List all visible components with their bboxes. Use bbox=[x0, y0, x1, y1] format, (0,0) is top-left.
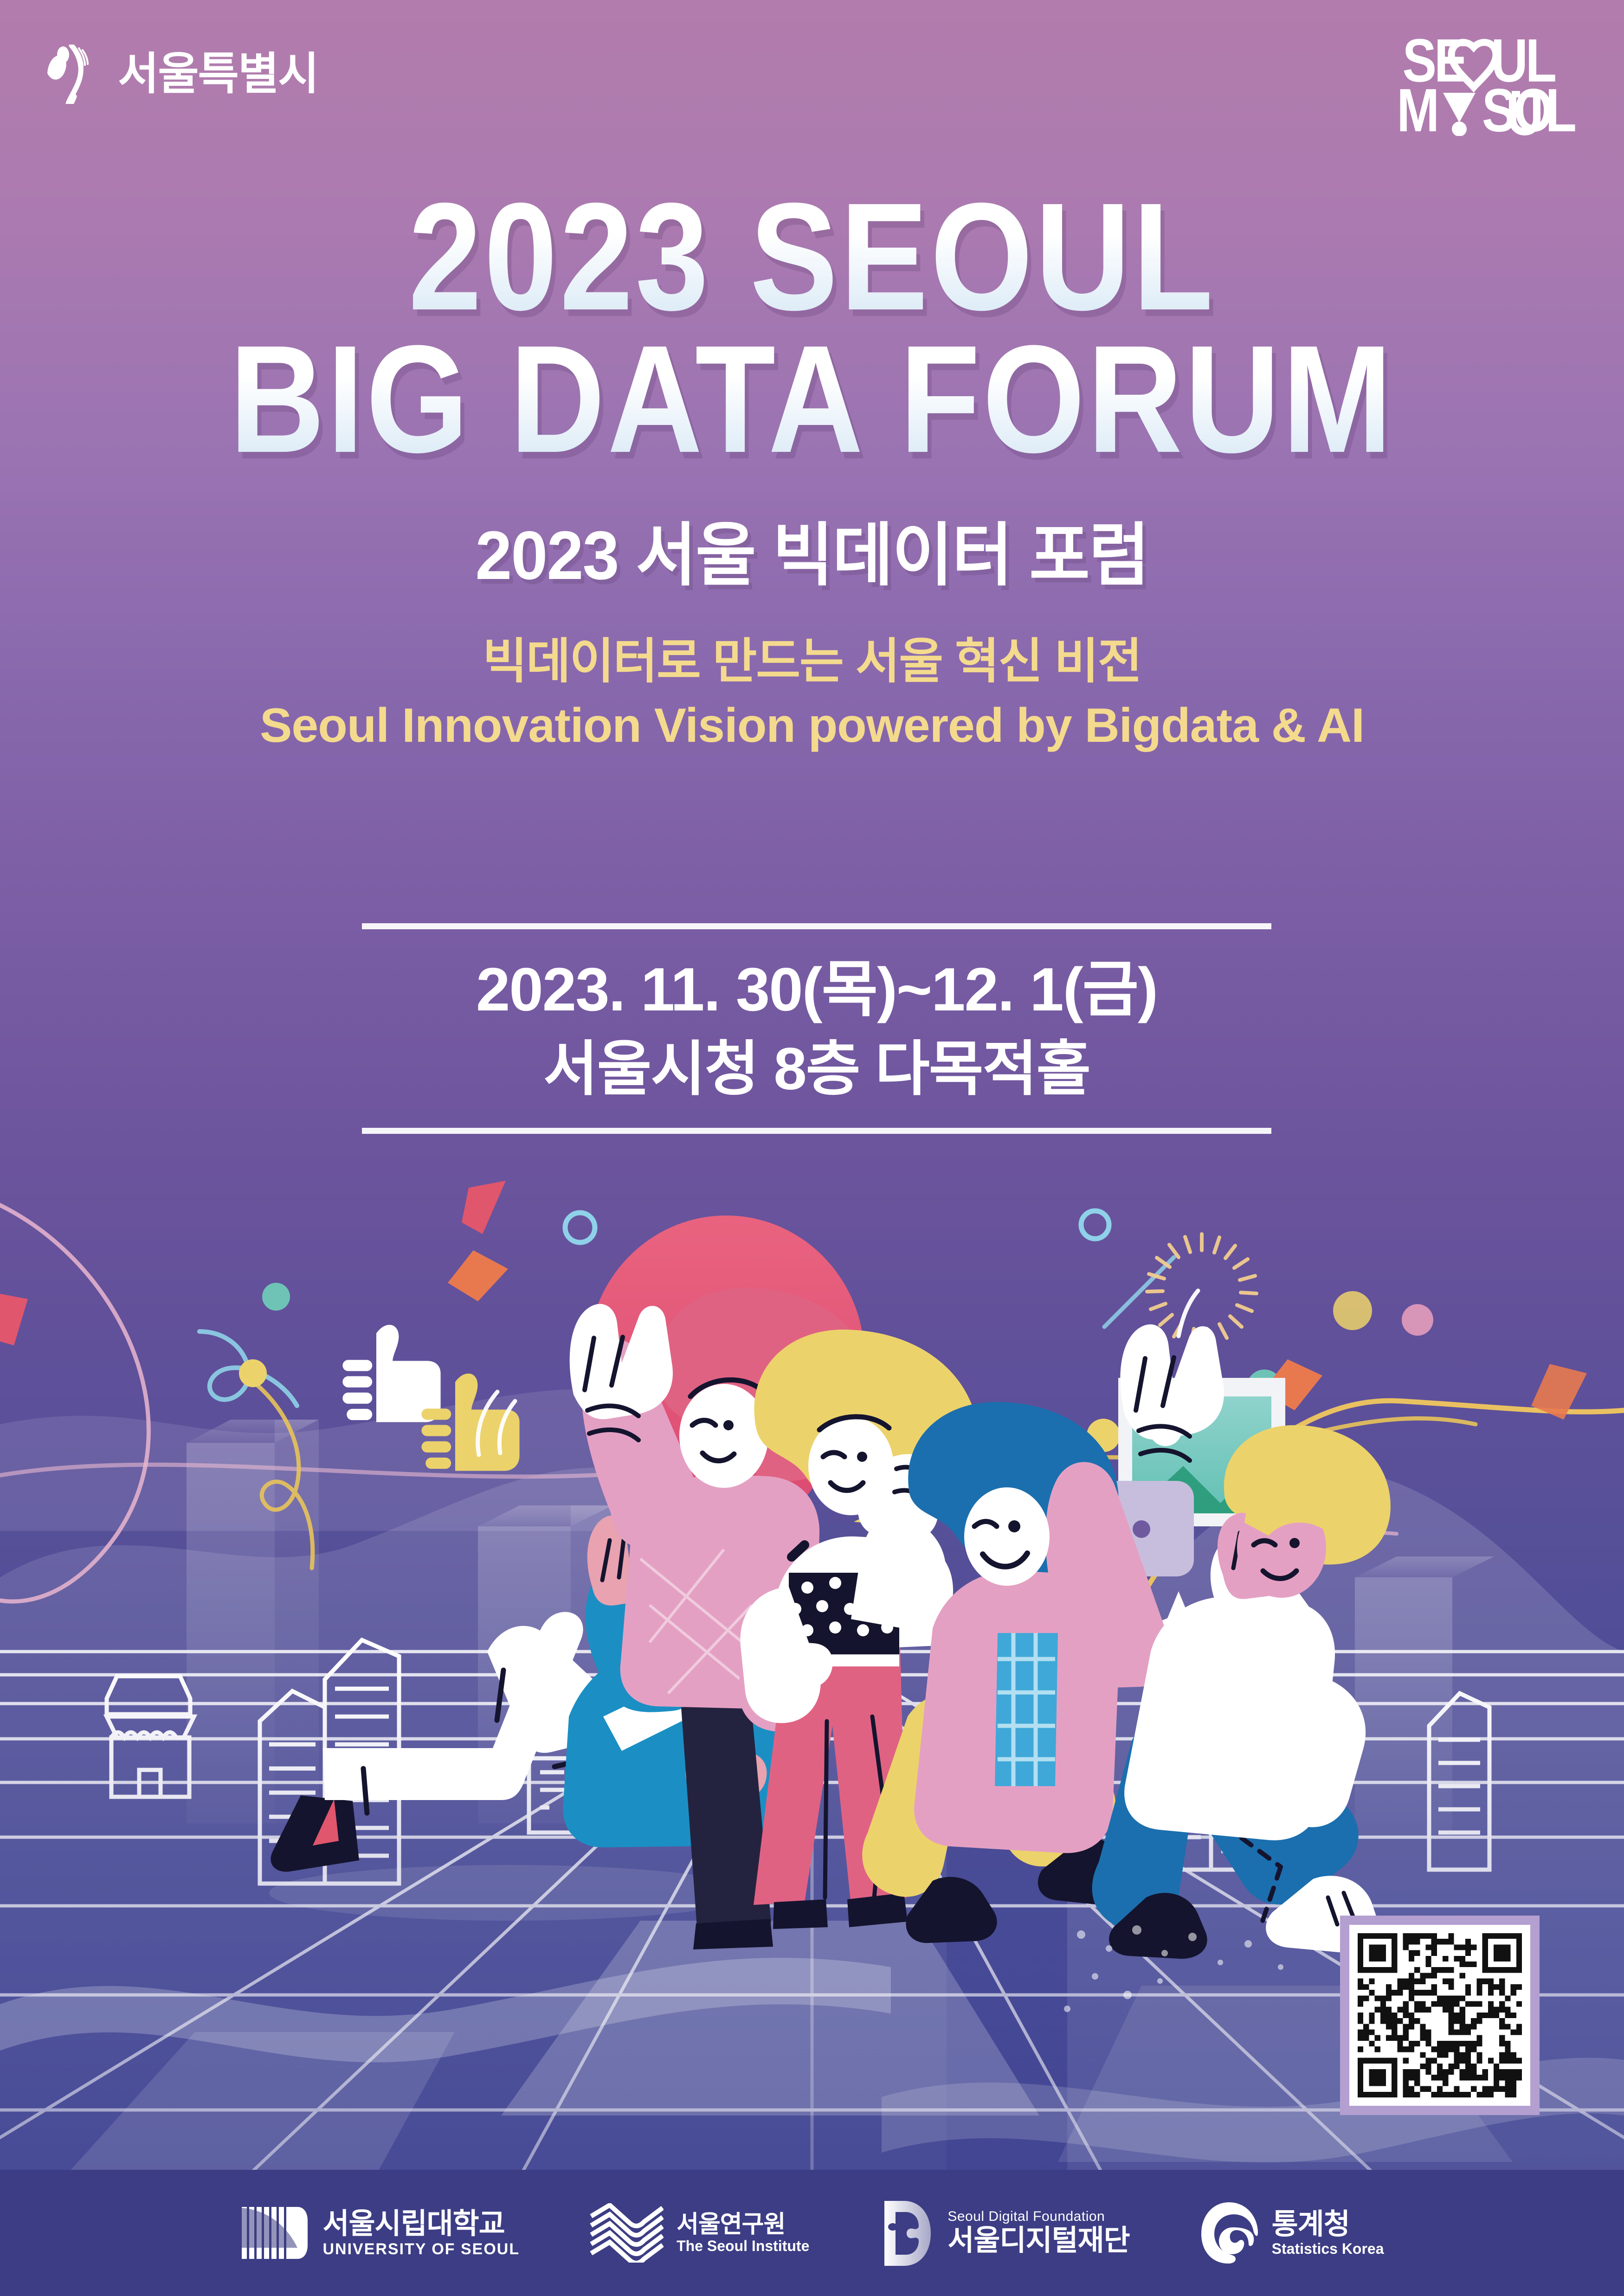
logo-statistics-korea: 통계청 Statistics Korea bbox=[1199, 2200, 1384, 2265]
logo-seoul-digital-foundation: Seoul Digital Foundation 서울디지털재단 bbox=[879, 2198, 1129, 2268]
thumbs-up-icon-white bbox=[342, 1325, 440, 1422]
qr-code-image bbox=[1358, 1933, 1522, 2097]
logo-label-kr: 서울디지털재단 bbox=[947, 2225, 1129, 2257]
title-korean: 2023 서울 빅데이터 포럼 bbox=[32, 499, 1592, 599]
seoul-institute-logo-icon bbox=[589, 2203, 664, 2263]
svg-text:M: M bbox=[1397, 76, 1437, 136]
event-venue: 서울시청 8층 다목적홀 bbox=[362, 1040, 1271, 1099]
title-line-2: BIG DATA FORUM bbox=[114, 328, 1510, 470]
logo-seoul-institute: 서울연구원 The Seoul Institute bbox=[589, 2203, 809, 2263]
logo-label-kr: 서울시립대학교 bbox=[322, 2208, 520, 2240]
tagline-korean: 빅데이터로 만드는 서울 혁신 비전 bbox=[0, 631, 1624, 692]
qr-code[interactable] bbox=[1340, 1916, 1540, 2115]
logo-label-en: Statistics Korea bbox=[1272, 2241, 1384, 2257]
logo-university-of-seoul: 서울시립대학교 UNIVERSITY OF SEOUL bbox=[240, 2203, 520, 2263]
title-line-1: 2023 SEOUL bbox=[114, 186, 1510, 328]
poster-canvas: 서울특별시 SE UL M SO L bbox=[0, 0, 1624, 2296]
qr-code-inner bbox=[1349, 1925, 1530, 2106]
seoul-city-logo: 서울특별시 bbox=[45, 45, 318, 104]
logo-label-kr: 통계청 bbox=[1272, 2208, 1384, 2240]
event-date: 2023. 11. 30(목)~12. 1(금) bbox=[362, 959, 1271, 1020]
logo-label-en: UNIVERSITY OF SEOUL bbox=[322, 2240, 520, 2258]
divider-bottom bbox=[362, 1128, 1271, 1134]
tagline-english: Seoul Innovation Vision powered by Bigda… bbox=[0, 695, 1624, 757]
svg-text:L: L bbox=[1546, 76, 1575, 136]
statistics-korea-logo-icon bbox=[1199, 2200, 1259, 2265]
seoul-city-emblem-icon bbox=[45, 45, 106, 104]
seoul-city-wordmark: 서울특별시 bbox=[118, 52, 318, 96]
seoul-my-soul-logo: SE UL M SO L bbox=[1389, 36, 1584, 138]
seoul-my-soul-icon: SE UL M SO L bbox=[1389, 36, 1584, 136]
title-block: 2023 SEOUL BIG DATA FORUM 2023 서울 빅데이터 포… bbox=[0, 186, 1624, 757]
logo-label-kr: 서울연구원 bbox=[677, 2211, 809, 2238]
logo-label-en: Seoul Digital Foundation bbox=[947, 2209, 1129, 2225]
footer-sponsor-bar: 서울시립대학교 UNIVERSITY OF SEOUL 서울연구원 The Se… bbox=[0, 2170, 1624, 2296]
logo-label-en: The Seoul Institute bbox=[677, 2238, 809, 2255]
event-details-block: 2023. 11. 30(목)~12. 1(금) 서울시청 8층 다목적홀 bbox=[362, 923, 1271, 1134]
university-of-seoul-logo-icon bbox=[240, 2203, 309, 2263]
seoul-digital-foundation-logo-icon bbox=[879, 2198, 934, 2268]
tagline-block: 빅데이터로 만드는 서울 혁신 비전 Seoul Innovation Visi… bbox=[0, 631, 1624, 757]
divider-top bbox=[362, 923, 1271, 929]
